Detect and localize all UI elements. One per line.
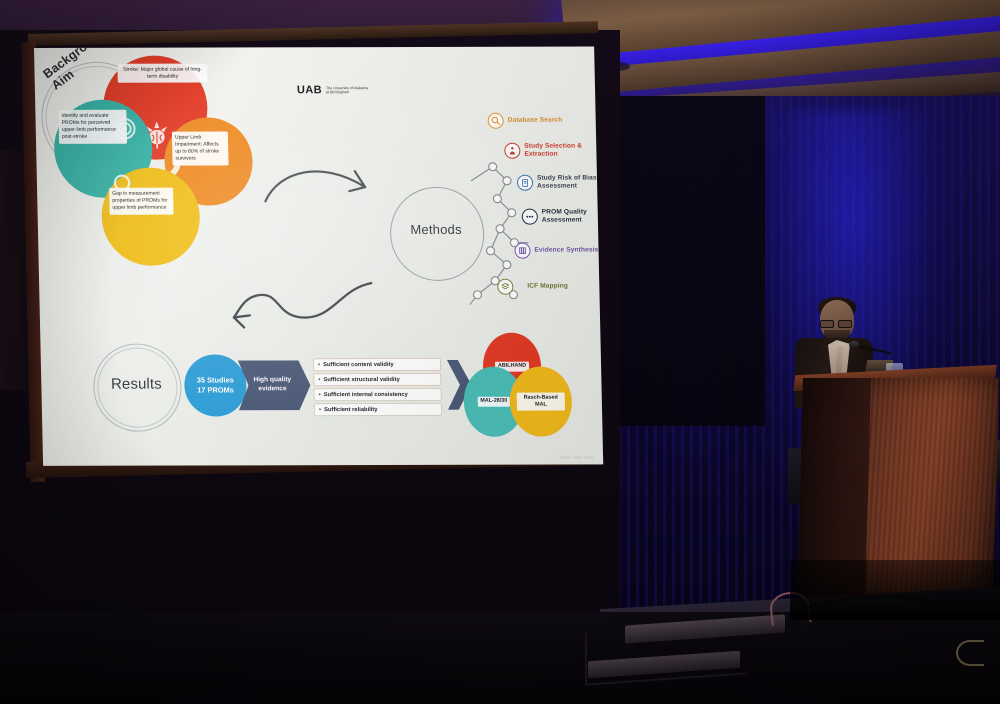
- uab-wordmark: UAB: [297, 84, 322, 96]
- curtain-dark-panel: [595, 96, 765, 426]
- bullet-icon: •: [319, 407, 321, 413]
- methods-step-prom-quality: PROM Quality Assessment: [522, 208, 604, 224]
- methods-step-study-selection: Study Selection & Extraction: [504, 142, 602, 158]
- results-count-proms: 17 PROMs: [197, 385, 234, 395]
- methods-step-label: PROM Quality Assessment: [542, 208, 604, 224]
- presentation-slide: UAB The University of Alabama at Birming…: [34, 47, 603, 466]
- curved-arrow-icon: [260, 157, 392, 227]
- bullet-icon: •: [319, 392, 321, 398]
- finding-item: • Sufficient content validity: [313, 358, 441, 371]
- person-icon: [504, 143, 520, 159]
- uab-logo-subtitle: The University of Alabama at Birmingham: [326, 86, 370, 95]
- finding-item: • Sufficient structural validity: [313, 373, 441, 386]
- bullet-icon: •: [318, 377, 320, 383]
- methods-step-label: Study Selection & Extraction: [524, 142, 602, 158]
- evidence-banner-line2: evidence: [254, 385, 292, 394]
- magnifier-icon: [488, 113, 504, 129]
- projection-screen: UAB The University of Alabama at Birming…: [34, 47, 603, 466]
- podium-shadow: [790, 560, 1000, 620]
- finding-label: Sufficient content validity: [323, 362, 394, 368]
- results-count-studies: 35 Studies: [197, 375, 234, 385]
- bubble-stroke-text: Stroke: Major global cause of long-term …: [117, 64, 207, 84]
- stage-floor: [0, 612, 1000, 704]
- finding-label: Sufficient internal consistency: [324, 391, 408, 397]
- dots-icon: [522, 209, 538, 225]
- squiggle-arrow-icon: [219, 277, 380, 333]
- presenter-glasses: [820, 320, 853, 326]
- methods-step-label: Evidence Synthesis: [534, 246, 603, 254]
- bubble-aim-text: Identify and evaluate PROMs for perceive…: [58, 110, 127, 144]
- results-counts: 35 Studies 17 PROMs: [184, 354, 247, 416]
- finding-label: Sufficient structural validity: [323, 376, 399, 382]
- finding-label: Sufficient reliability: [324, 407, 378, 413]
- books-icon: [514, 243, 530, 259]
- bullet-icon: •: [318, 362, 320, 368]
- tan-cable: [956, 640, 984, 666]
- methods-step-evidence-synthesis: Evidence Synthesis: [514, 242, 603, 258]
- finding-item: • Sufficient reliability: [314, 403, 442, 416]
- clipboard-icon: [517, 175, 533, 191]
- methods-step-icf-mapping: ICF Mapping: [497, 278, 597, 294]
- methods-step-label: Database Search: [508, 117, 588, 125]
- evidence-quality-banner: High quality evidence: [238, 360, 311, 410]
- prom-mal-label: MAL-28/30: [477, 397, 510, 407]
- slide-footnote: Poster / slide credit: [560, 455, 593, 459]
- prom-rasch-mal-label: Rasch-Based MAL: [517, 393, 565, 410]
- results-title: Results: [93, 376, 179, 393]
- methods-step-label: ICF Mapping: [527, 282, 597, 290]
- methods-step-database-search: Database Search: [488, 113, 588, 129]
- bubble-impairment-text: Upper Limb Impairment: Affects up to 80%…: [172, 131, 229, 165]
- conference-room-photo: UAB The University of Alabama at Birming…: [0, 0, 1000, 704]
- evidence-banner-line1: High quality: [253, 377, 291, 386]
- prom-rasch-mal: Rasch-Based MAL: [509, 367, 573, 437]
- methods-step-label: Study Risk of Bias Assessment: [537, 174, 603, 190]
- finding-item: • Sufficient internal consistency: [313, 388, 441, 401]
- uab-logo: UAB The University of Alabama at Birming…: [297, 84, 370, 96]
- microphone-icon: [849, 341, 859, 349]
- bubble-gap-text: Gap in measurement properties of PROMs f…: [109, 188, 174, 215]
- layers-icon: [497, 279, 513, 295]
- methods-step-risk-of-bias: Study Risk of Bias Assessment: [517, 174, 603, 190]
